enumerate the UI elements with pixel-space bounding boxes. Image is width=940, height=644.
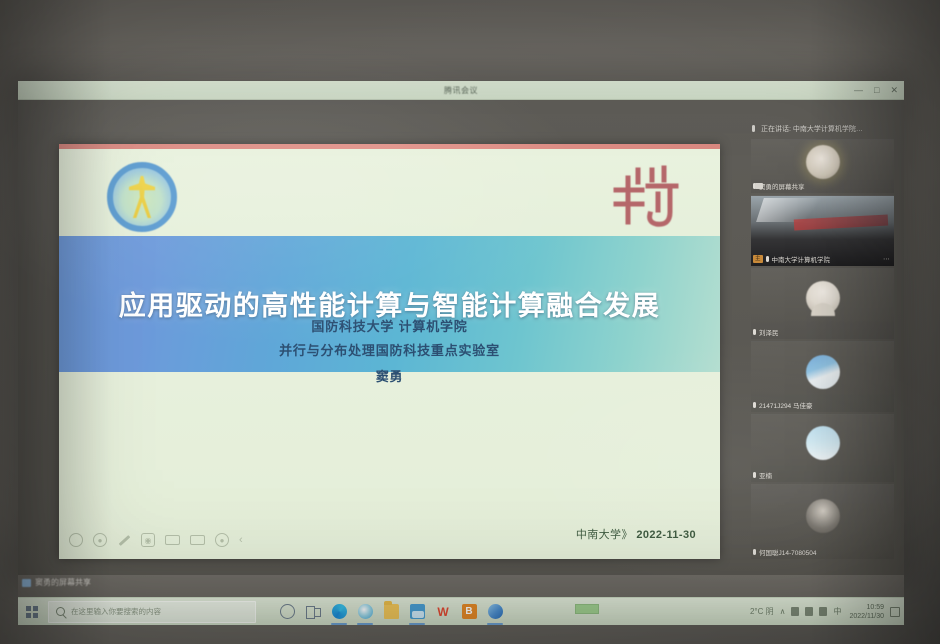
participant-name: 刘泽民 — [759, 327, 779, 337]
clock-time: 10:59 — [866, 603, 884, 612]
share-screen-icon — [22, 579, 31, 587]
participant-tile[interactable]: 何国聪J14-7080504 — [751, 484, 894, 559]
mic-icon — [766, 256, 769, 262]
participant-name-row: 刘泽民 — [753, 327, 779, 337]
screen-share-indicator[interactable]: 窦勇的屏幕共享 — [22, 577, 91, 588]
weather-status[interactable]: 2°C 阴 — [750, 606, 774, 617]
active-speaker-text: 正在讲话: 中南大学计算机学院… — [761, 126, 863, 133]
participant-name: 何国聪J14-7080504 — [759, 547, 816, 557]
slide-subtitle-3: 窦勇 — [59, 366, 720, 385]
mic-muted-icon — [753, 549, 756, 555]
slide-footer-org: 中南大学》 — [576, 529, 633, 541]
photos-icon[interactable] — [404, 598, 430, 626]
camera-off-icon — [755, 183, 763, 189]
ime-language-icon[interactable]: 中 — [833, 606, 841, 617]
search-input[interactable]: 在这里输入你要搜索的内容 — [48, 601, 256, 623]
windows-taskbar[interactable]: 在这里输入你要搜索的内容 W B 2°C 阴 ∧ 中 10:59 2022/11… — [18, 597, 904, 625]
participant-name-row: 窦勇的屏幕共享 — [753, 181, 805, 191]
mic-muted-icon — [753, 402, 756, 408]
more-icon[interactable]: ⋯ — [883, 255, 891, 263]
slide-subtitle-2: 并行与分布处理国防科技重点实验室 — [59, 340, 720, 359]
participant-tile[interactable]: 亚楠 — [751, 414, 894, 481]
avatar — [806, 355, 840, 389]
avatar — [806, 426, 840, 460]
participant-tile[interactable]: 主 中南大学计算机学院 ⋯ — [751, 195, 894, 266]
wps-icon[interactable]: W — [430, 598, 456, 626]
room-background: 腾讯会议 — □ ✕ — [0, 0, 940, 644]
participant-name-row: 何国聪J14-7080504 — [753, 547, 816, 557]
notification-center-icon[interactable] — [890, 607, 900, 617]
cortana-icon[interactable] — [274, 598, 300, 626]
laser-icon[interactable]: ● — [93, 533, 107, 547]
avatar — [806, 499, 840, 533]
chevron-up-icon[interactable]: ∧ — [780, 607, 786, 616]
task-view-icon[interactable] — [300, 598, 326, 626]
mic-icon — [752, 125, 755, 132]
meeting-icon[interactable] — [482, 598, 508, 626]
participant-tile[interactable]: 刘泽民 — [751, 268, 894, 339]
meeting-window-body: 应用驱动的高性能计算与智能计算融合发展 国防科技大学 计算机学院 并行与分布处理… — [18, 100, 904, 575]
avatar — [806, 281, 840, 315]
zoom-icon[interactable]: ◉ — [141, 533, 155, 547]
participant-name: 窦勇的屏幕共享 — [759, 181, 805, 191]
desktop-strip: 窦勇的屏幕共享 — [18, 575, 904, 599]
slide-footer-meta: 中南大学》 2022-11-30 — [576, 526, 696, 542]
search-placeholder: 在这里输入你要搜索的内容 — [71, 606, 161, 617]
windows-logo-icon — [26, 606, 38, 618]
share-label: 窦勇的屏幕共享 — [35, 577, 91, 588]
clock[interactable]: 10:59 2022/11/30 — [847, 603, 884, 621]
participant-sidebar[interactable]: 正在讲话: 中南大学计算机学院… 窦勇的屏幕共享 — [751, 122, 894, 559]
participant-name-row: 主 中南大学计算机学院 — [753, 254, 830, 264]
participant-name: 亚楠 — [759, 470, 772, 480]
window-controls[interactable]: — □ ✕ — [854, 81, 898, 100]
calligraphy-ji-logo-icon — [608, 160, 686, 234]
nudt-emblem-figure — [129, 176, 155, 218]
pen-icon[interactable] — [117, 533, 131, 547]
participant-tile[interactable]: 21471J294 马佳豪 — [751, 341, 894, 412]
more-options-icon[interactable]: ● — [215, 533, 229, 547]
maximize-icon[interactable]: □ — [874, 86, 879, 95]
prev-slide-icon[interactable]: ‹ — [239, 534, 243, 546]
battery-icon[interactable] — [819, 607, 827, 616]
pointer-icon[interactable] — [69, 533, 83, 547]
participant-name: 21471J294 马佳豪 — [759, 400, 812, 410]
slide-subtitle-1: 国防科技大学 计算机学院 — [59, 316, 720, 335]
host-badge: 主 — [753, 255, 763, 263]
participant-name-row: 21471J294 马佳豪 — [753, 400, 812, 410]
shared-slide[interactable]: 应用驱动的高性能计算与智能计算融合发展 国防科技大学 计算机学院 并行与分布处理… — [59, 144, 720, 559]
mic-muted-icon — [753, 329, 756, 335]
start-button[interactable] — [18, 598, 46, 626]
minimize-icon[interactable]: — — [854, 86, 863, 95]
clock-date: 2022/11/30 — [849, 612, 884, 621]
system-tray[interactable]: 2°C 阴 ∧ 中 10:59 2022/11/30 — [750, 598, 904, 626]
participant-name: 中南大学计算机学院 — [772, 254, 831, 264]
avatar — [806, 145, 840, 179]
slides-grid-icon[interactable] — [165, 535, 180, 545]
ie-icon[interactable] — [352, 598, 378, 626]
participant-tile[interactable]: 窦勇的屏幕共享 — [751, 139, 894, 193]
slide-footer-date: 2022-11-30 — [636, 529, 696, 541]
mic-muted-icon — [753, 472, 756, 478]
bilibili-icon[interactable]: B — [456, 598, 482, 626]
active-speaker-label: 正在讲话: 中南大学计算机学院… — [751, 122, 894, 137]
close-icon[interactable]: ✕ — [890, 86, 898, 95]
network-icon[interactable] — [805, 607, 813, 616]
nudt-emblem-icon — [107, 162, 177, 232]
volume-icon[interactable] — [791, 607, 799, 616]
meeting-window-titlebar: 腾讯会议 — □ ✕ — [18, 81, 904, 100]
notes-icon[interactable] — [190, 535, 205, 545]
search-icon — [56, 607, 65, 616]
ppt-presenter-toolbar[interactable]: ● ◉ ● ‹ — [69, 533, 243, 547]
projected-screen: 腾讯会议 — □ ✕ — [18, 81, 904, 575]
edge-icon[interactable] — [326, 598, 352, 626]
window-title: 腾讯会议 — [444, 85, 478, 96]
taskbar-thumbnail-preview — [575, 604, 599, 614]
participant-name-row: 亚楠 — [753, 470, 772, 480]
file-explorer-icon[interactable] — [378, 598, 404, 626]
